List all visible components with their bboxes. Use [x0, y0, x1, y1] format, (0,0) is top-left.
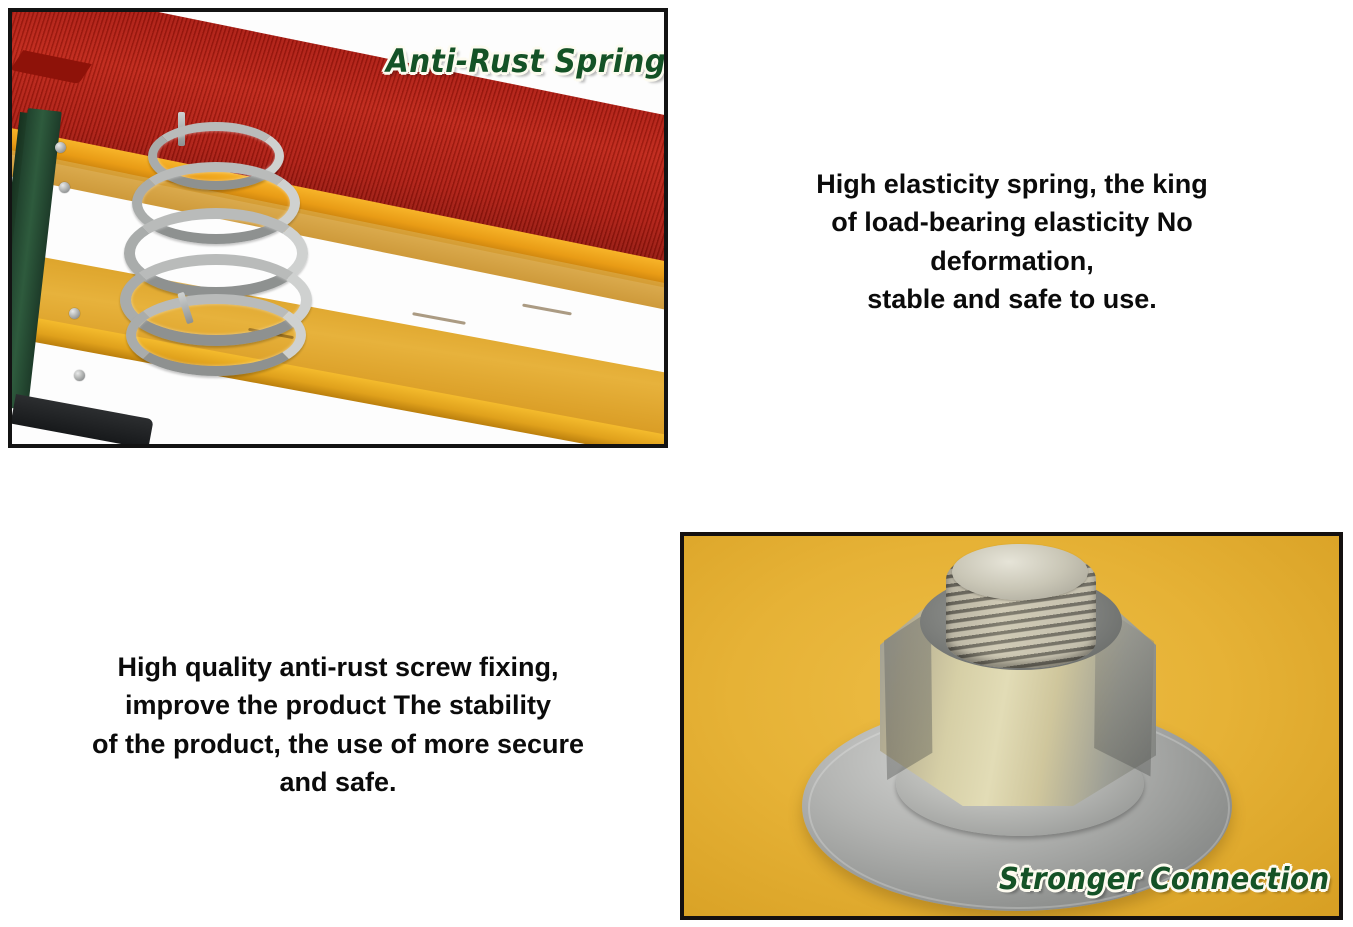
board-groove-icon [522, 303, 572, 315]
rivet-icon [55, 142, 66, 153]
stronger-connection-badge: Stronger Connection [999, 862, 1330, 897]
conical-steel-spring-icon [116, 108, 296, 338]
black-rubber-foot-icon [11, 394, 154, 448]
board-groove-icon [412, 312, 466, 325]
screw-description-text: High quality anti-rust screw fixing, imp… [18, 648, 658, 801]
anti-rust-spring-badge: Anti-Rust Spring [386, 42, 666, 80]
rivet-icon [69, 308, 80, 319]
bolt-photo-scene [684, 536, 1339, 916]
spring-description-text: High elasticity spring, the king of load… [742, 165, 1282, 318]
spring-photo-scene: Anti-Rust Spring [12, 12, 664, 444]
bolt-cap-icon [952, 544, 1088, 600]
spring-coil-icon [126, 294, 306, 376]
rivet-icon [59, 182, 70, 193]
spring-photo-panel: Anti-Rust Spring [8, 8, 668, 448]
rivet-icon [74, 370, 85, 381]
